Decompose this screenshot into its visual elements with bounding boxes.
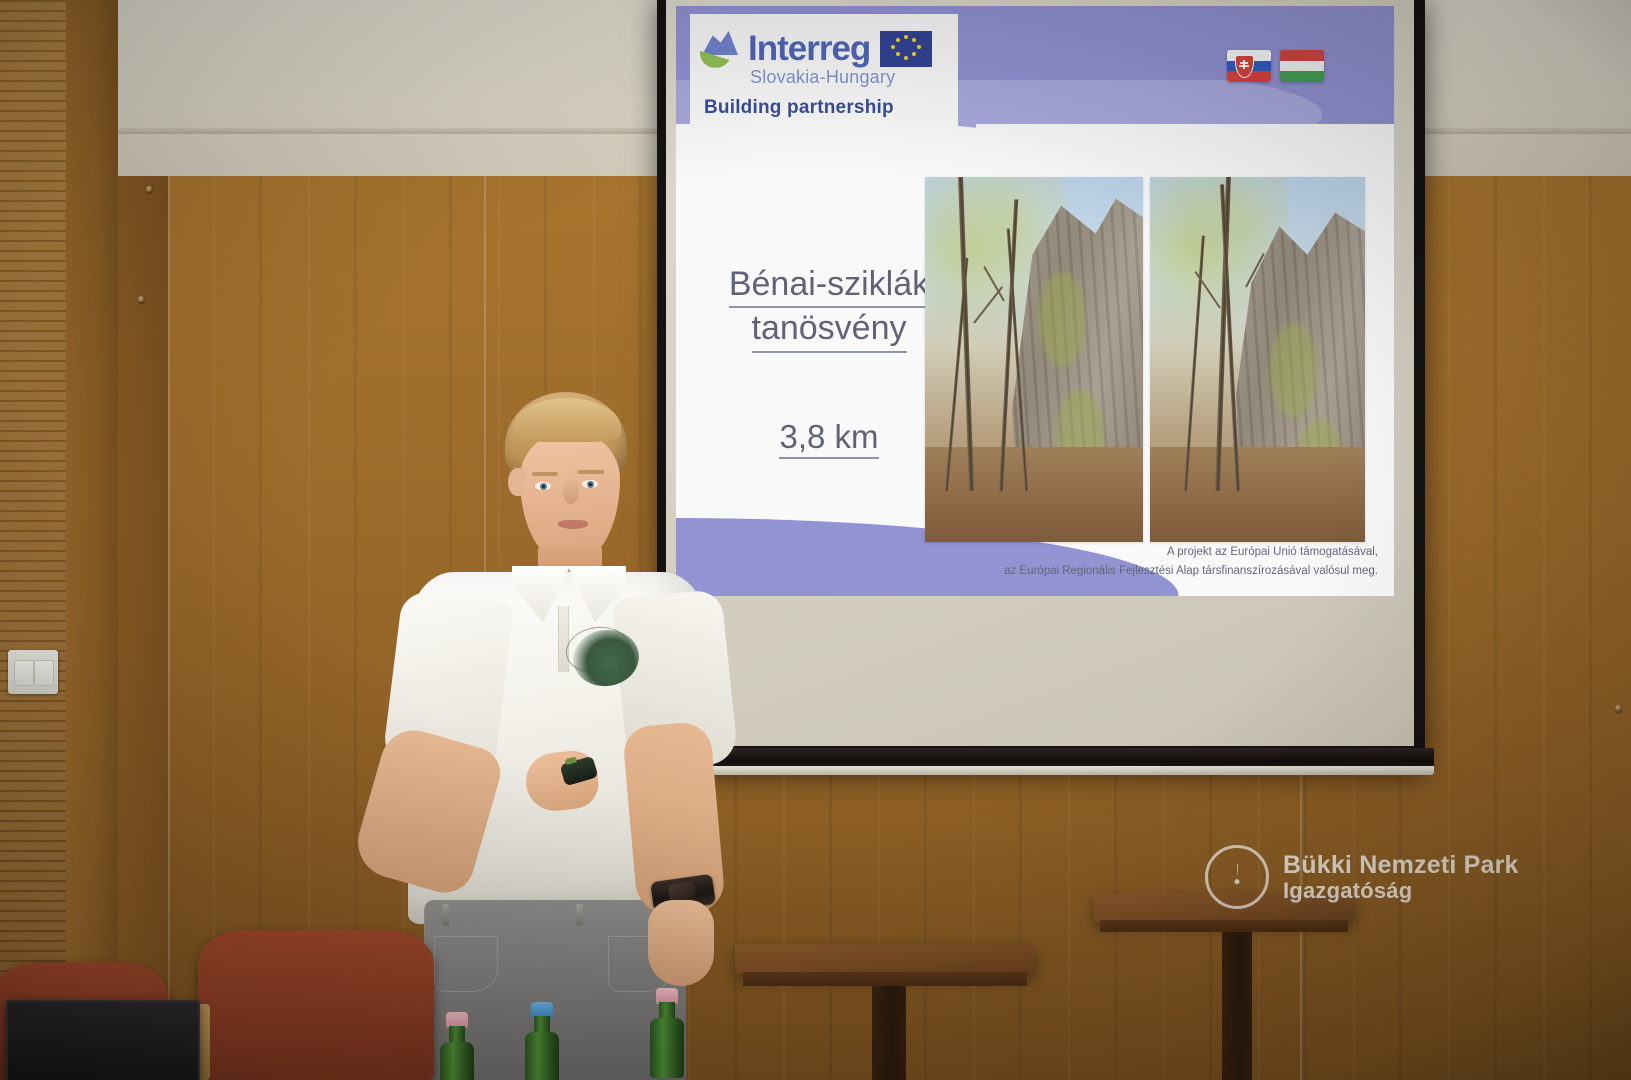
watermark: Bükki Nemzeti Park Igazgatóság [1205,845,1519,909]
rock-formation-photo-left [925,177,1143,542]
wood-wall-edge-panel [118,176,168,1080]
nose [563,478,579,504]
side-table-front [735,944,1035,974]
watermark-text: Bükki Nemzeti Park Igazgatóság [1283,851,1519,904]
interreg-tagline: Building partnership [704,97,950,119]
wall-seam [168,176,170,1080]
interreg-logo-block: Interreg Slovakia-Hungary Building partn… [690,14,958,134]
side-table-back-leg [1222,932,1252,1080]
slatted-wood-wall [0,0,66,1080]
projected-slide: Interreg Slovakia-Hungary Building partn… [676,6,1394,596]
wall-screw [1615,705,1622,712]
slide-title: Bénai-sziklák tanösvény [704,264,954,353]
jeans-pocket-left [434,936,498,992]
side-table-front-leg [872,986,906,1080]
footer-line-2: az Európai Regionális Fejlesztési Alap t… [1004,562,1378,580]
belt-loop [576,904,583,926]
eyebrow-left [532,472,558,476]
switch-rocker-right[interactable] [34,660,54,686]
interreg-logo-row: Interreg [698,29,950,69]
slide-title-line1: Bénai-sziklák [729,264,929,308]
eye-right [582,480,598,488]
national-park-emblem-icon [1205,845,1269,909]
laptop[interactable] [6,1000,200,1080]
eyebrow-right [578,470,604,474]
belt-loop [442,904,449,926]
audience-chair [198,930,434,1080]
hungary-flag-icon [1280,50,1324,82]
ear [508,468,526,496]
rock-formation-photo-right [1150,177,1365,542]
slide-distance-value: 3,8 km [779,418,878,459]
watermark-line-2: Igazgatóság [1283,878,1412,903]
eye-left [535,482,551,490]
footer-line-1: A projekt az Európai Unió támogatásával, [1004,543,1378,561]
slide-title-line2: tanösvény [752,308,907,352]
slovakia-flag-icon [1227,50,1271,82]
light-switch[interactable] [8,650,58,694]
wall-screw [138,296,145,303]
watermark-line-1: Bükki Nemzeti Park [1283,851,1519,879]
presentation-photo-scene: Interreg Slovakia-Hungary Building partn… [0,0,1631,1080]
eu-flag-icon [880,31,932,67]
hand-right [648,900,714,986]
interreg-wordmark: Interreg [748,32,870,65]
wood-post [66,0,118,1080]
switch-rocker-left[interactable] [14,660,34,686]
projector-screen-bottom-lip [648,766,1434,775]
interreg-programme-label: Slovakia-Hungary [750,67,950,88]
slide-funding-footer: A projekt az Európai Unió támogatásával,… [1004,543,1378,580]
wall-screw [146,186,153,193]
mouth [558,520,588,529]
interreg-mountain-icon [698,29,742,69]
shirt-placket [558,606,569,672]
